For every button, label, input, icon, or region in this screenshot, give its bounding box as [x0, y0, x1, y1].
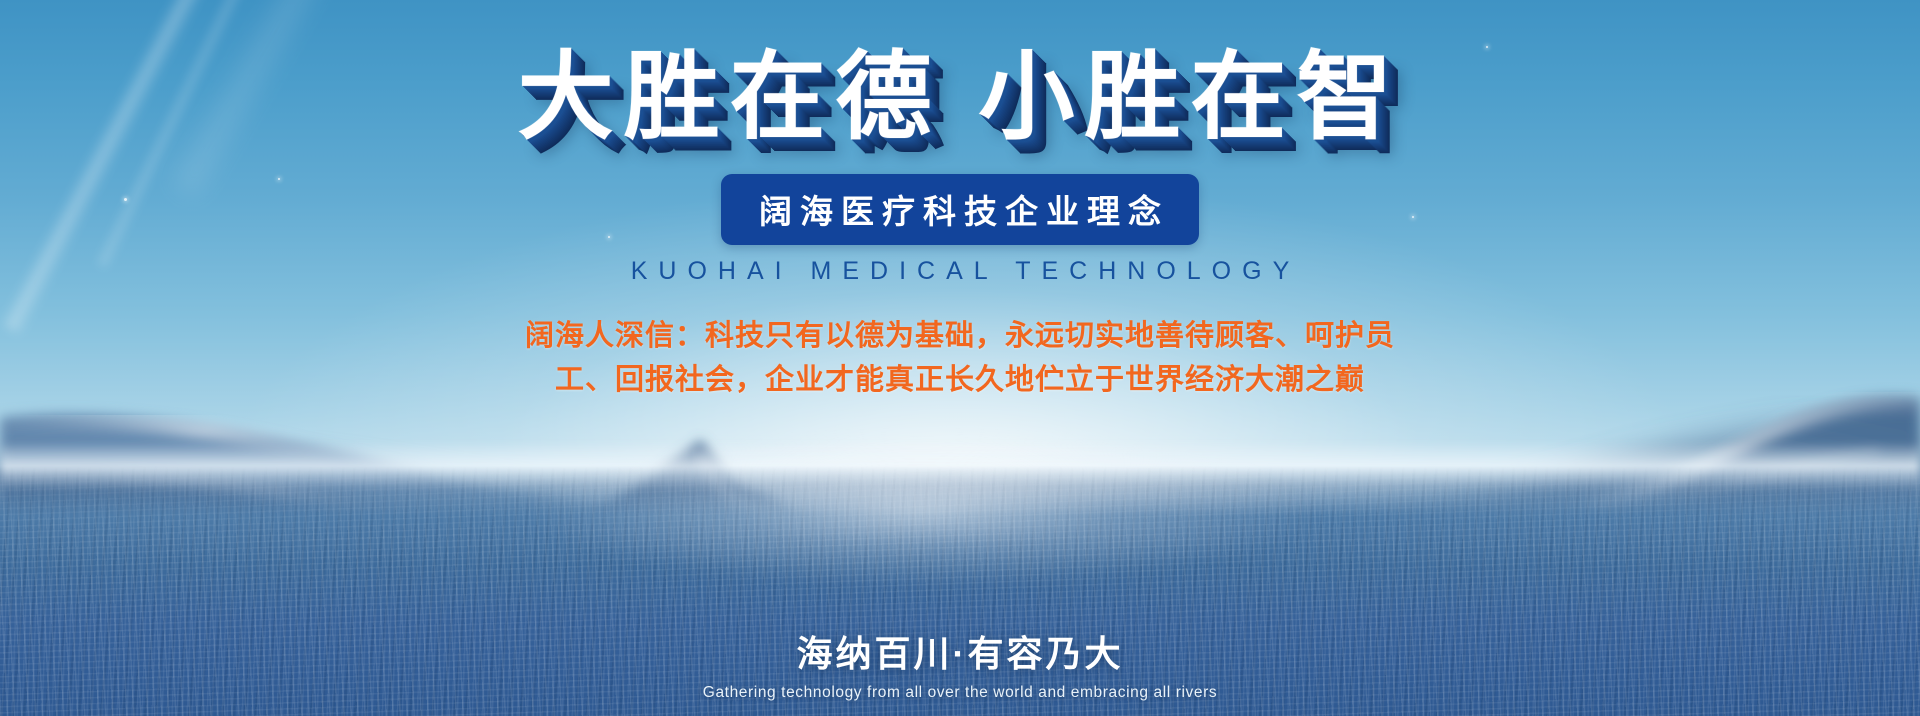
- banner-content: 大胜在德 小胜在智 阔海医疗科技企业理念 KUOHAI MEDICAL TECH…: [0, 0, 1920, 716]
- creed-line-2: 工、回报社会，企业才能真正长久地伫立于世界经济大潮之巅: [525, 358, 1395, 402]
- main-title: 大胜在德 小胜在智: [518, 46, 1403, 150]
- hero-banner: 大胜在德 小胜在智 阔海医疗科技企业理念 KUOHAI MEDICAL TECH…: [0, 0, 1920, 716]
- creed-paragraph: 阔海人深信：科技只有以德为基础，永远切实地善待顾客、呵护员 工、回报社会，企业才…: [525, 314, 1395, 402]
- company-name-english: KUOHAI MEDICAL TECHNOLOGY: [620, 257, 1301, 286]
- footer-slogan-block: 海纳百川·有容乃大 Gathering technology from all …: [703, 625, 1217, 702]
- company-philosophy-badge: 阔海医疗科技企业理念: [721, 174, 1199, 245]
- footer-slogan-cn: 海纳百川·有容乃大: [703, 625, 1217, 677]
- footer-slogan-en: Gathering technology from all over the w…: [703, 684, 1217, 702]
- creed-line-1: 阔海人深信：科技只有以德为基础，永远切实地善待顾客、呵护员: [525, 314, 1395, 358]
